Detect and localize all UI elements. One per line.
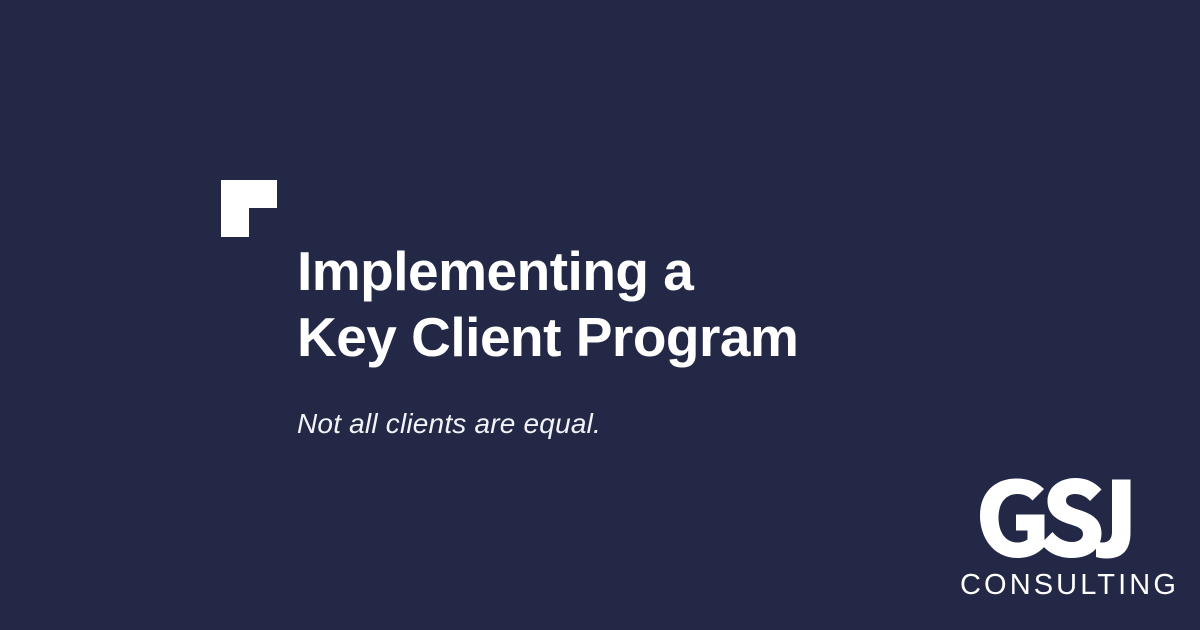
brand-logo: CONSULTING xyxy=(960,470,1165,610)
headline-block: Implementing a Key Client Program xyxy=(297,238,917,370)
corner-bracket-icon xyxy=(221,180,277,237)
corner-bracket-left-bar xyxy=(221,180,249,237)
title-slide: Implementing a Key Client Program Not al… xyxy=(0,0,1200,630)
headline-line-1: Implementing a xyxy=(297,238,917,304)
subtitle: Not all clients are equal. xyxy=(297,405,601,443)
headline-line-2: Key Client Program xyxy=(297,304,917,370)
gsj-monogram-icon xyxy=(960,470,1165,570)
brand-wordmark: CONSULTING xyxy=(960,568,1165,602)
page-title: Implementing a Key Client Program xyxy=(297,238,917,370)
